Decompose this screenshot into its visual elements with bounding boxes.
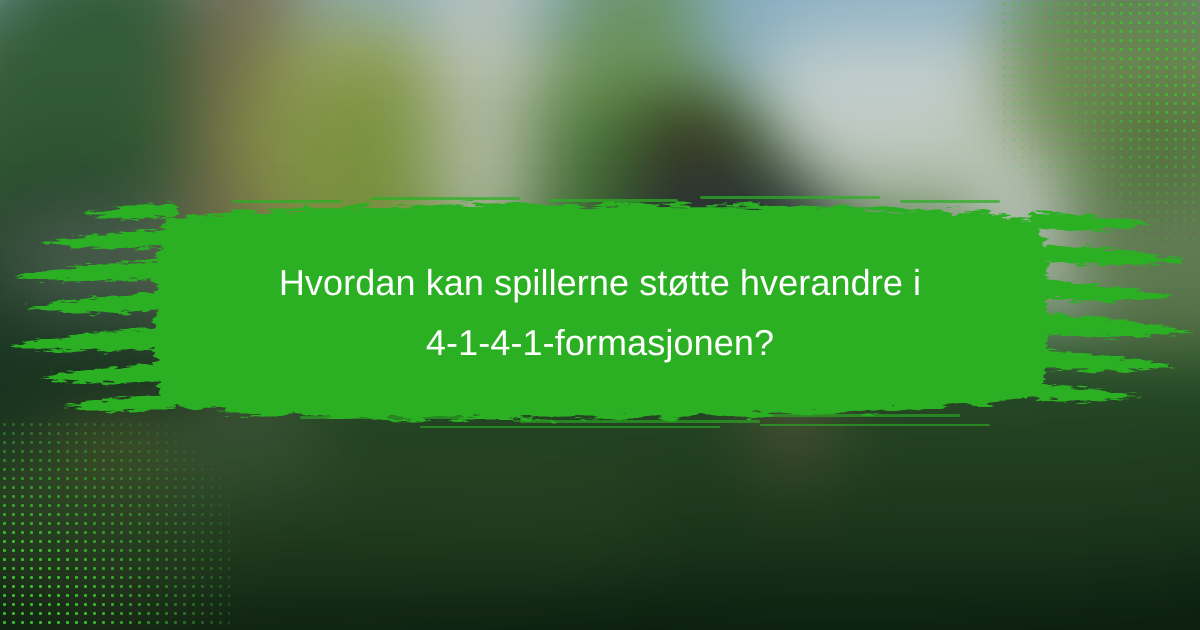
quote-card: Hvordan kan spillerne støtte hverandre i… xyxy=(0,0,1200,630)
brush-tendrils-right xyxy=(1028,212,1194,401)
brush-stroke-banner xyxy=(0,188,1200,438)
brush-stroke-shape xyxy=(0,188,1200,438)
brush-tendrils-left xyxy=(8,202,180,411)
brush-body xyxy=(154,204,1048,419)
